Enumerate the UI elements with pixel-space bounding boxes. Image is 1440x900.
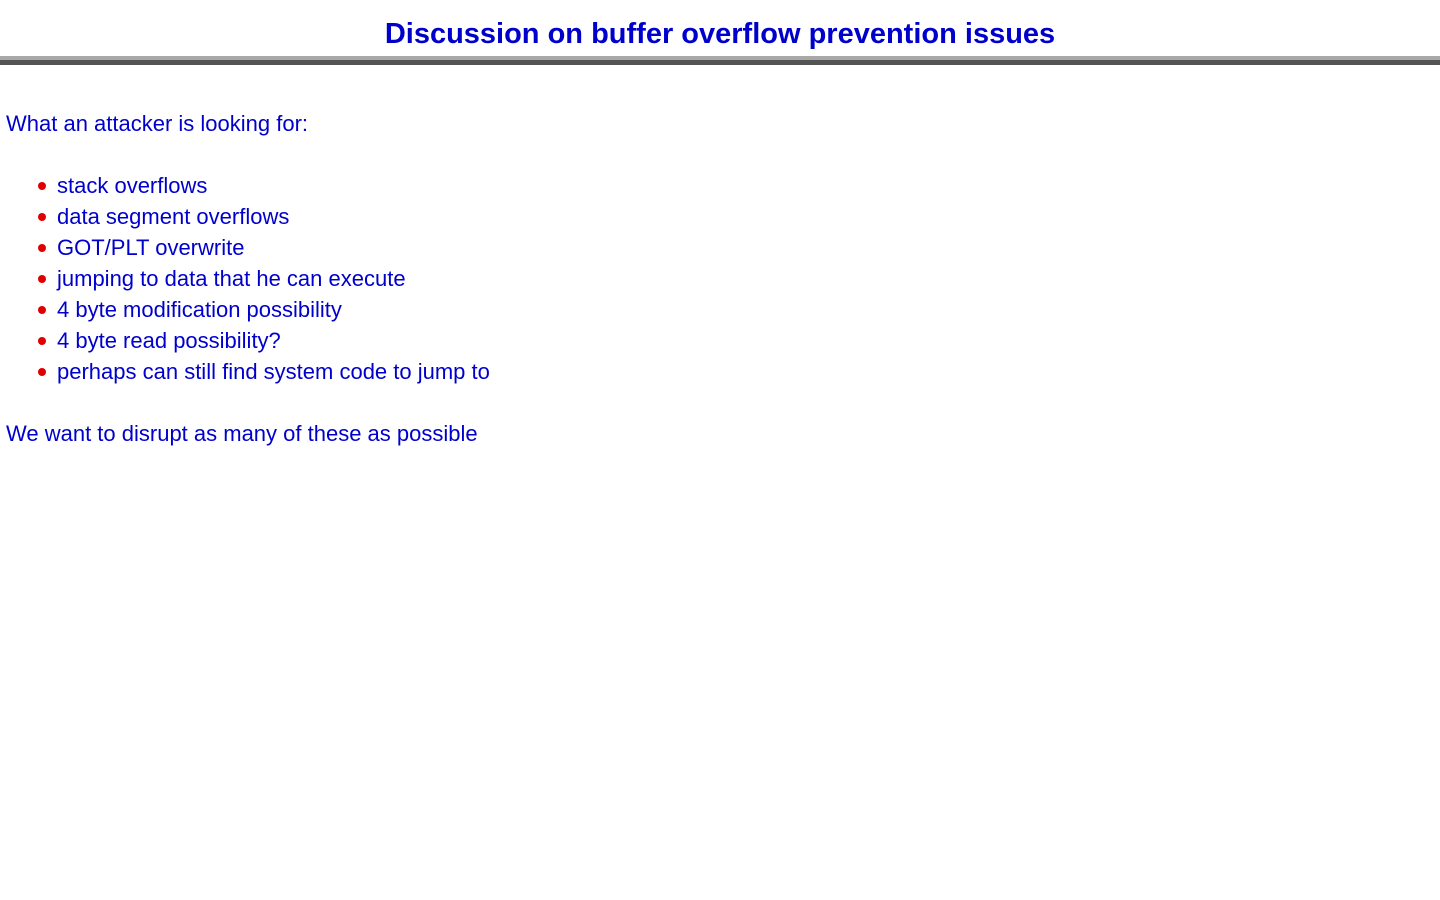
list-item-label: GOT/PLT overwrite	[57, 235, 244, 260]
list-item-label: data segment overflows	[57, 204, 289, 229]
conclusion-line: We want to disrupt as many of these as p…	[6, 418, 1426, 449]
bullet-dot-icon	[38, 368, 46, 376]
list-item: 4 byte read possibility?	[6, 325, 1426, 356]
bullet-dot-icon	[38, 213, 46, 221]
list-item: GOT/PLT overwrite	[6, 232, 1426, 263]
list-item: jumping to data that he can execute	[6, 263, 1426, 294]
list-item-label: 4 byte read possibility?	[57, 328, 281, 353]
list-item: stack overflows	[6, 170, 1426, 201]
slide-body: What an attacker is looking for: stack o…	[6, 108, 1426, 449]
list-item-label: jumping to data that he can execute	[57, 266, 406, 291]
divider-dark-band	[0, 60, 1440, 65]
slide-title: Discussion on buffer overflow prevention…	[0, 16, 1440, 52]
bullet-dot-icon	[38, 275, 46, 283]
list-item: data segment overflows	[6, 201, 1426, 232]
presentation-slide: Discussion on buffer overflow prevention…	[0, 0, 1440, 900]
bullet-dot-icon	[38, 337, 46, 345]
body-spacer-bottom	[6, 387, 1426, 418]
list-item-label: 4 byte modification possibility	[57, 297, 342, 322]
list-item-label: perhaps can still find system code to ju…	[57, 359, 490, 384]
bullet-dot-icon	[38, 244, 46, 252]
bullet-dot-icon	[38, 182, 46, 190]
list-item: 4 byte modification possibility	[6, 294, 1426, 325]
body-spacer-top	[6, 139, 1426, 170]
attacker-goals-list: stack overflows data segment overflows G…	[6, 170, 1426, 387]
list-item: perhaps can still find system code to ju…	[6, 356, 1426, 387]
bullet-dot-icon	[38, 306, 46, 314]
list-item-label: stack overflows	[57, 173, 207, 198]
title-divider	[0, 56, 1440, 65]
intro-line: What an attacker is looking for:	[6, 108, 1426, 139]
